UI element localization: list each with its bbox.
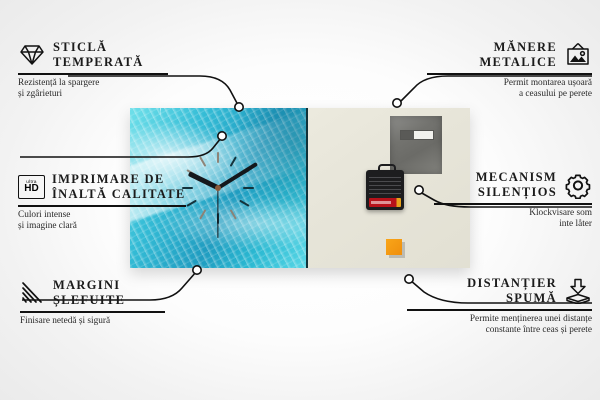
callout-title-line: MĂNERE: [494, 40, 557, 54]
callout-title-line: ȘLEFUITE: [53, 293, 125, 307]
callout-desc-line: Permit montarea ușoară: [504, 78, 592, 88]
movement-hanger-loop: [378, 164, 396, 174]
hands-center-cap: [215, 185, 221, 191]
hanging-picture-icon: [564, 42, 592, 68]
ultra-hd-icon: ultra HD: [18, 175, 45, 199]
callout-title-line: TEMPERATĂ: [53, 55, 144, 69]
callout-title-line: ÎNALTĂ CALITATE: [52, 187, 186, 201]
callout-title-line: DISTANȚIER: [467, 276, 557, 290]
callout-title-line: IMPRIMARE DE: [52, 172, 164, 186]
callout-desc-line: Klockvisare som: [529, 208, 592, 218]
foam-spacer-pad: [386, 239, 402, 255]
callout-title-line: STICLĂ: [53, 40, 107, 54]
callout-title-line: MARGINI: [53, 278, 120, 292]
callout-title-line: SPUMĂ: [506, 291, 557, 305]
callout-desc-line: și zgârieturi: [18, 89, 62, 99]
clock-movement: [366, 170, 404, 210]
ultra-hd-large-text: HD: [24, 184, 38, 194]
callout-rule: [434, 203, 592, 205]
callout-desc-line: inte låter: [559, 219, 592, 229]
callout-rule: [20, 311, 165, 313]
arrow-into-layers-icon: [564, 278, 592, 304]
callout-desc-line: Finisare netedă și sigură: [20, 316, 110, 326]
callout-foam-spacer: DISTANȚIER SPUMĂ Permite menținerea unei…: [407, 276, 592, 337]
diamond-icon: [18, 43, 46, 67]
beveled-edge-icon: [20, 281, 46, 305]
callout-rule: [427, 73, 592, 75]
callout-title-line: METALICE: [479, 55, 557, 69]
callout-silent-mechanism: MECANISM SILENȚIOS Klockvisare som inte …: [434, 170, 592, 231]
callout-tempered-glass: STICLĂ TEMPERATĂ Rezistență la spargere …: [18, 40, 168, 101]
callout-rule: [18, 73, 168, 75]
movement-label: [369, 174, 401, 194]
callout-desc-line: constante între ceas și perete: [486, 325, 592, 335]
callout-hd-print: ultra HD IMPRIMARE DE ÎNALTĂ CALITATE Cu…: [18, 172, 186, 233]
callout-metal-handles: MĂNERE METALICE Permit montarea ușoară a…: [427, 40, 592, 101]
callout-desc-line: a ceasului pe perete: [519, 89, 592, 99]
callout-polished-edges: MARGINI ȘLEFUITE Finisare netedă și sigu…: [20, 278, 165, 327]
callout-desc-line: Permite menținerea unei distanțe: [470, 314, 592, 324]
hanger-slot: [400, 130, 434, 140]
callout-desc-line: și imagine clară: [18, 221, 77, 231]
gear-icon: [564, 172, 592, 199]
metal-hanger-plate: [390, 116, 442, 174]
infographic-canvas: STICLĂ TEMPERATĂ Rezistență la spargere …: [0, 0, 600, 400]
callout-title-line: MECANISM: [476, 170, 557, 184]
callout-desc-line: Culori intense: [18, 210, 70, 220]
callout-rule: [18, 205, 186, 207]
battery: [369, 198, 401, 207]
callout-rule: [407, 309, 592, 311]
callout-desc-line: Rezistență la spargere: [18, 78, 99, 88]
callout-title-line: SILENȚIOS: [478, 185, 557, 199]
